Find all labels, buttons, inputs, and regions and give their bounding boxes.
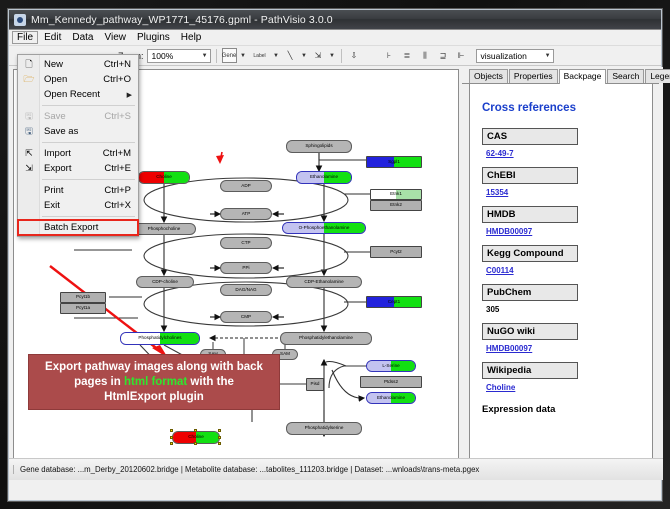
xref-link[interactable]: Choline [486, 383, 640, 392]
node-label: Pcyt2 [390, 250, 402, 255]
file-menu-item-label: Import [40, 148, 103, 159]
node-label: Pcyt1a [76, 306, 90, 311]
file-menu-separator [42, 142, 135, 143]
resize-handle[interactable] [194, 442, 197, 445]
file-menu-item-label: Exit [40, 200, 104, 211]
node-label: CDP-Ethanolamine [304, 280, 343, 285]
node-label: DAG/NAG [235, 288, 256, 293]
resize-handle[interactable] [218, 442, 221, 445]
stack-icon[interactable]: ⊒ [436, 48, 451, 63]
pathway-node-ctp[interactable]: CTP [220, 237, 272, 249]
tab-objects[interactable]: Objects [469, 69, 508, 83]
cross-reference-list: CAS62-49-7ChEBI15354HMDBHMDB00097Kegg Co… [482, 128, 640, 392]
node-label: CDP-choline [152, 280, 178, 285]
node-label: CTP [241, 241, 250, 246]
xref-database-name: NuGO wiki [482, 323, 578, 340]
pathway-node-cdp-ethanolamine[interactable]: CDP-Ethanolamine [286, 276, 362, 288]
save-as-icon: 🖫 [18, 127, 40, 136]
align-top-icon[interactable]: ⇩ [347, 48, 362, 63]
export-icon: ⇲ [18, 164, 40, 173]
resize-handle[interactable] [194, 429, 197, 432]
xref-block: PubChem305 [482, 284, 640, 314]
callout-line-3: HtmlExport plugin [104, 390, 204, 405]
interaction-chevron-down-icon[interactable]: ▼ [329, 53, 336, 59]
file-menu-separator [42, 179, 135, 180]
file-menu-item-shortcut: Ctrl+X [104, 200, 138, 211]
file-menu-item-print[interactable]: PrintCtrl+P [18, 183, 138, 198]
file-menu-item-export[interactable]: ⇲ExportCtrl+E [18, 161, 138, 176]
label-chevron-down-icon[interactable]: ▼ [273, 53, 280, 59]
node-label: Choline [188, 435, 204, 440]
pathway-node-pcyt1b[interactable]: Pcyt1b [60, 292, 106, 303]
file-menu-item-label: Export [40, 163, 104, 174]
resize-handle[interactable] [218, 429, 221, 432]
gene-shape-button[interactable]: Gene [222, 48, 237, 63]
file-menu-item-label: Save [40, 111, 104, 122]
xref-link[interactable]: HMDB00097 [486, 344, 640, 353]
file-menu-item-label: Batch Export [40, 222, 131, 233]
file-menu-item-shortcut: Ctrl+S [104, 111, 138, 122]
pathway-node-l-serine[interactable]: L-Serine [366, 360, 416, 372]
xref-database-name: HMDB [482, 206, 578, 223]
xref-link[interactable]: 15354 [486, 188, 640, 197]
pathway-node-phosphatidylethanolamine[interactable]: Phosphatidylethanolamine [280, 332, 372, 345]
pathway-node-etnk1[interactable]: Etnk1 [370, 189, 422, 200]
file-menu-item-shortcut: Ctrl+P [104, 185, 138, 196]
file-menu-dropdown[interactable]: 🗋NewCtrl+N🗁OpenCtrl+OOpen Recent▶🖫SaveCt… [17, 54, 139, 237]
pathway-node-phosphatidylserine[interactable]: Phosphatidylserine [286, 422, 362, 435]
toolbar-divider [216, 49, 217, 63]
tab-search[interactable]: Search [607, 69, 644, 83]
node-label: Ethanolamine [310, 175, 338, 180]
node-label: Etnk2 [390, 203, 402, 208]
pathway-node-sphingolipids[interactable]: Sphingolipids [286, 140, 352, 153]
callout-line-1: Export pathway images along with back [45, 360, 263, 375]
node-label: Cept1 [388, 300, 400, 305]
status-text: Gene database: ...m_Derby_20120602.bridg… [13, 465, 479, 474]
zoom-combo[interactable]: 100% ▼ [147, 49, 211, 63]
desktop-background: Mm_Kennedy_pathway_WP1771_45176.gpml - P… [0, 0, 670, 509]
pathway-node-choline-top[interactable]: Choline [138, 171, 190, 184]
file-menu-item-batch-export[interactable]: Batch Export [18, 220, 138, 235]
align-center-icon[interactable]: ≣ [400, 48, 415, 63]
xref-link[interactable]: HMDB00097 [486, 227, 640, 236]
sidebar-tabs: Objects Properties Backpage Search Legen… [462, 69, 659, 84]
pathway-node-cdp-choline[interactable]: CDP-choline [136, 276, 194, 288]
resize-handle[interactable] [170, 429, 173, 432]
pathway-node-cept1[interactable]: Cept1 [366, 296, 422, 308]
node-label: Sphingolipids [305, 144, 332, 149]
window-title: Mm_Kennedy_pathway_WP1771_45176.gpml - P… [31, 14, 333, 26]
pathway-node-etnk2[interactable]: Etnk2 [370, 200, 422, 211]
xref-block: ChEBI15354 [482, 167, 640, 197]
save-icon: 🖫 [18, 112, 40, 121]
chevron-down-icon: ▼ [545, 53, 551, 59]
node-label: Phosphatidylserine [305, 426, 344, 431]
file-menu-item-label: Save as [40, 126, 131, 137]
menu-view[interactable]: View [99, 31, 131, 44]
node-label: Phosphocholine [148, 227, 181, 232]
align-left-icon[interactable]: ⊦ [382, 48, 397, 63]
file-menu-item-save: 🖫SaveCtrl+S [18, 109, 138, 124]
title-bar: Mm_Kennedy_pathway_WP1771_45176.gpml - P… [9, 10, 661, 30]
menu-help[interactable]: Help [176, 31, 207, 44]
callout-line-2: pages in html format with the [74, 375, 234, 390]
group-icon[interactable]: ⊩ [454, 48, 469, 63]
xref-block: WikipediaCholine [482, 362, 640, 392]
visualization-combo[interactable]: visualization ▼ [476, 49, 554, 63]
pathway-node-ptdss2[interactable]: Ptdss2 [360, 376, 422, 388]
xref-link[interactable]: C00114 [486, 266, 640, 275]
xref-block: NuGO wikiHMDB00097 [482, 323, 640, 353]
file-menu-item-label: Open [40, 74, 103, 85]
chevron-down-icon: ▼ [202, 53, 208, 59]
menu-plugins[interactable]: Plugins [132, 31, 175, 44]
file-menu-item-shortcut: Ctrl+M [103, 148, 138, 159]
node-label: CMP [241, 315, 251, 320]
toolbar-divider-2 [341, 49, 342, 63]
pathway-node-atp[interactable]: ATP [220, 208, 272, 220]
folder-icon: 🗁 [18, 75, 40, 84]
node-label: Pisd [311, 382, 320, 387]
xref-block: CAS62-49-7 [482, 128, 640, 158]
pathway-node-pcyt2[interactable]: Pcyt2 [370, 246, 422, 258]
file-menu-items: 🗋NewCtrl+N🗁OpenCtrl+OOpen Recent▶🖫SaveCt… [18, 57, 138, 235]
node-label: ADP [241, 184, 250, 189]
menu-bar: File Edit Data View Plugins Help [9, 30, 661, 46]
zoom-value: 100% [152, 51, 174, 61]
pathway-node-dag-nag[interactable]: DAG/NAG [220, 284, 272, 296]
xref-database-name: Wikipedia [482, 362, 578, 379]
file-menu-item-label: New [40, 59, 104, 70]
node-label: Sgpl1 [388, 160, 400, 165]
pathvisio-icon [14, 14, 26, 26]
menu-edit[interactable]: Edit [39, 31, 66, 44]
resize-handle[interactable] [170, 436, 173, 439]
line-chevron-down-icon[interactable]: ▼ [301, 53, 308, 59]
file-menu-item-exit[interactable]: ExitCtrl+X [18, 198, 138, 213]
file-menu-item-shortcut: Ctrl+E [104, 163, 138, 174]
node-label: Etnk1 [390, 192, 402, 197]
expression-data-heading: Expression data [482, 404, 640, 415]
node-label: PPi [242, 266, 249, 271]
xref-value: 305 [486, 305, 640, 314]
file-menu-item-save-as[interactable]: 🖫Save as [18, 124, 138, 139]
import-icon: ⇱ [18, 149, 40, 158]
pathway-node-adp[interactable]: ADP [220, 180, 272, 192]
node-label: ATP [242, 212, 251, 217]
interaction-tool-icon[interactable]: ⇲ [311, 48, 326, 63]
file-menu-item-open[interactable]: 🗁OpenCtrl+O [18, 72, 138, 87]
xref-database-name: ChEBI [482, 167, 578, 184]
pathvisio-window: Mm_Kennedy_pathway_WP1771_45176.gpml - P… [8, 9, 662, 501]
pathway-node-ppi[interactable]: PPi [220, 262, 272, 274]
tab-backpage[interactable]: Backpage [559, 69, 607, 84]
tab-properties[interactable]: Properties [509, 69, 558, 83]
resize-handle[interactable] [218, 436, 221, 439]
file-menu-item-label: Open Recent [40, 89, 127, 100]
gene-shape-chevron-down-icon[interactable]: ▼ [240, 53, 247, 59]
xref-database-name: Kegg Compound [482, 245, 578, 262]
new-file-icon: 🗋 [18, 60, 40, 69]
node-label: Phosphatidylcholines [138, 336, 181, 341]
node-label: SAM [280, 352, 290, 357]
pathway-node-phosphatidylcholines[interactable]: Phosphatidylcholines [120, 332, 200, 345]
node-label: Choline [156, 175, 172, 180]
file-menu-item-shortcut: Ctrl+O [103, 74, 138, 85]
file-menu-item-label: Print [40, 185, 104, 196]
pathway-node-phosphocholine[interactable]: Phosphocholine [132, 223, 196, 235]
pathway-node-sgpl1[interactable]: Sgpl1 [366, 156, 422, 168]
node-label: O-Phosphoethanolamine [299, 226, 350, 231]
xref-database-name: PubChem [482, 284, 578, 301]
sidebar-panel: Objects Properties Backpage Search Legen… [462, 69, 659, 474]
callout-line-2-prefix: pages in [74, 376, 124, 388]
pathway-node-o-phosphoethanol[interactable]: O-Phosphoethanolamine [282, 222, 366, 234]
xref-database-name: CAS [482, 128, 578, 145]
pathway-node-ethanolamine-low[interactable]: Ethanolamine [366, 392, 416, 404]
xref-block: HMDBHMDB00097 [482, 206, 640, 236]
node-label: L-Serine [382, 364, 399, 369]
file-menu-item-new[interactable]: 🗋NewCtrl+N [18, 57, 138, 72]
pathway-node-pcyt1a[interactable]: Pcyt1a [60, 303, 106, 314]
pathway-node-ethanolamine-top[interactable]: Ethanolamine [296, 171, 352, 184]
line-tool-icon[interactable]: ╲ [283, 48, 298, 63]
file-menu-separator [42, 105, 135, 106]
node-label: Ethanolamine [377, 396, 405, 401]
xref-link[interactable]: 62-49-7 [486, 149, 640, 158]
callout-line-2-suffix: with the [187, 376, 234, 388]
status-bar: Gene database: ...m_Derby_20120602.bridg… [9, 458, 663, 480]
node-label: Phosphatidylethanolamine [299, 336, 353, 341]
menu-file[interactable]: File [12, 31, 38, 44]
file-menu-item-open-recent[interactable]: Open Recent▶ [18, 87, 138, 102]
file-menu-separator [42, 216, 135, 217]
visualization-value: visualization [481, 51, 527, 61]
callout-highlight: html format [124, 376, 187, 388]
resize-handle[interactable] [170, 442, 173, 445]
pathway-node-pisd[interactable]: Pisd [306, 378, 324, 391]
file-menu-item-shortcut: Ctrl+N [104, 59, 138, 70]
file-menu-item-import[interactable]: ⇱ImportCtrl+M [18, 146, 138, 161]
node-label: Pcyt1b [76, 295, 90, 300]
annotation-callout: Export pathway images along with back pa… [28, 354, 280, 410]
tab-legend[interactable]: Legend [645, 69, 670, 83]
submenu-chevron-right-icon: ▶ [127, 91, 138, 99]
cross-references-heading: Cross references [482, 102, 640, 114]
backpage-content[interactable]: Cross references CAS62-49-7ChEBI15354HMD… [469, 84, 653, 472]
label-tool-button[interactable]: Label [250, 48, 270, 63]
pathway-node-cmp[interactable]: CMP [220, 311, 272, 323]
align-vertical-icon[interactable]: ⫼ [418, 48, 433, 63]
menu-data[interactable]: Data [67, 31, 98, 44]
xref-block: Kegg CompoundC00114 [482, 245, 640, 275]
node-label: Ptdss2 [384, 380, 398, 385]
